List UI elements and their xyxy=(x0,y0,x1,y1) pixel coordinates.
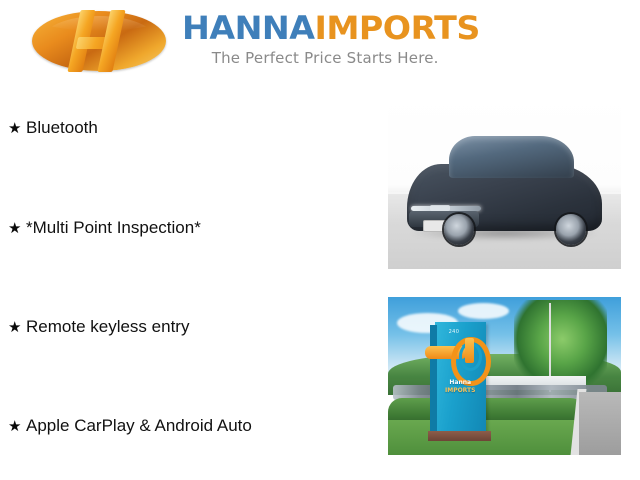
car-rear-wheel xyxy=(556,214,586,244)
brand-wordmark: HANNAIMPORTS xyxy=(182,12,480,44)
car-front-wheel xyxy=(444,214,474,244)
dealership-photo[interactable]: 240 Hanna IMPORTS xyxy=(388,297,621,455)
list-item: ★ Bluetooth xyxy=(8,119,98,138)
vehicle-photo[interactable] xyxy=(388,94,621,269)
brand-tagline: The Perfect Price Starts Here. xyxy=(182,49,468,67)
monument-sign-side-face xyxy=(430,325,437,436)
hanna-oval-h-emblem-icon xyxy=(30,8,170,74)
wordmark-imports: IMPORTS xyxy=(314,9,479,47)
brand-wordmark-block: HANNAIMPORTS The Perfect Price Starts He… xyxy=(182,8,468,67)
road xyxy=(579,392,621,455)
list-item: ★ Apple CarPlay & Android Auto xyxy=(8,417,252,436)
car-badge xyxy=(430,205,450,211)
list-item: ★ Remote keyless entry xyxy=(8,318,189,337)
vehicle-feature-list: ★ Bluetooth ★ *Multi Point Inspection* ★… xyxy=(0,95,380,480)
star-bullet-icon: ★ xyxy=(8,221,26,236)
header-bar: HANNAIMPORTS The Perfect Price Starts He… xyxy=(0,0,640,92)
star-bullet-icon: ★ xyxy=(8,419,26,434)
brand-logo-lockup: HANNAIMPORTS The Perfect Price Starts He… xyxy=(30,8,468,74)
sign-h-stroke xyxy=(465,338,474,363)
feature-label: Bluetooth xyxy=(26,119,98,138)
list-item: ★ *Multi Point Inspection* xyxy=(8,219,201,238)
street-number-text: 240 xyxy=(449,329,460,335)
wordmark-hanna: HANNA xyxy=(182,9,314,47)
sign-name-imports: IMPORTS xyxy=(445,387,475,394)
feature-label: Remote keyless entry xyxy=(26,318,189,337)
star-bullet-icon: ★ xyxy=(8,320,26,335)
monument-sign-base xyxy=(428,431,491,440)
monument-sign-brand-text: Hanna IMPORTS xyxy=(438,379,482,395)
car-windshield xyxy=(458,143,565,173)
sign-name-hanna: Hanna xyxy=(449,379,471,386)
feature-label: *Multi Point Inspection* xyxy=(26,219,201,238)
feature-label: Apple CarPlay & Android Auto xyxy=(26,417,252,436)
star-bullet-icon: ★ xyxy=(8,121,26,136)
